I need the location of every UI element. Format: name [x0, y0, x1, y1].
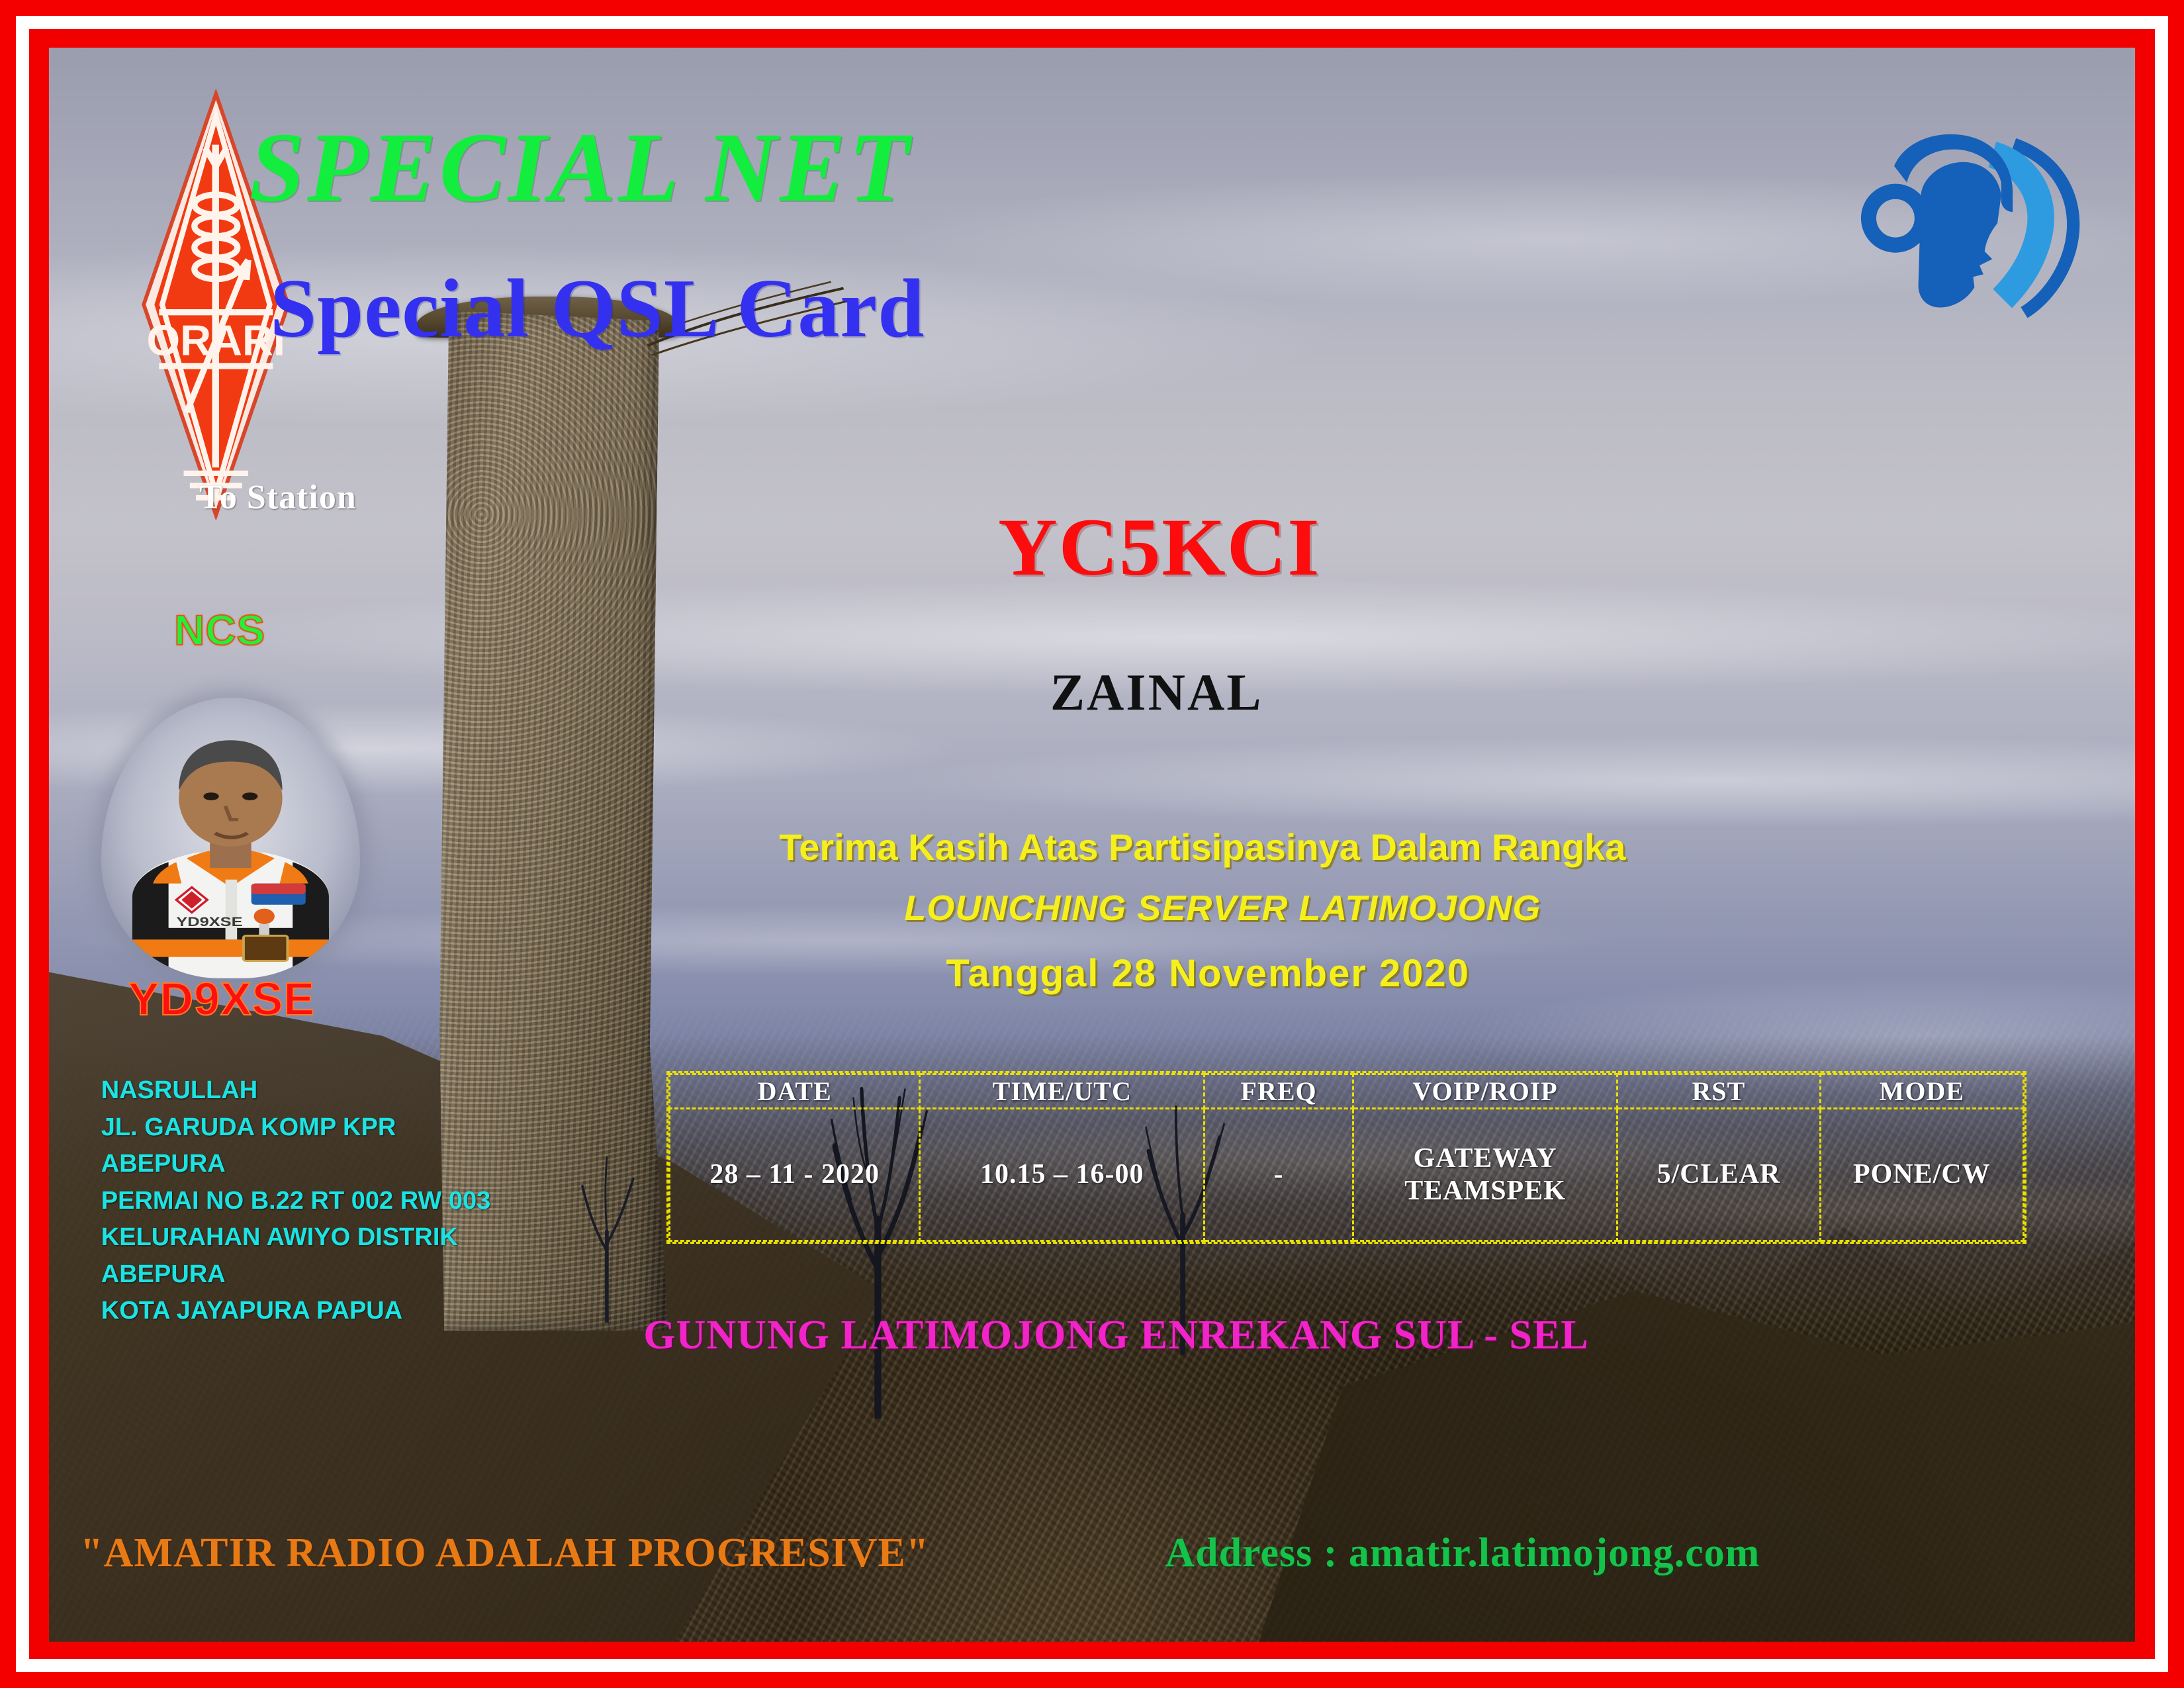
address-block: NASRULLAH JL. GARUDA KOMP KPR ABEPURA PE… [101, 1072, 490, 1329]
uniform-callsign-text: YD9XSE [176, 915, 242, 929]
event-thanks-line: Terima Kasih Atas Partisipasinya Dalam R… [779, 825, 1625, 868]
card-background-photo: ORARI SPECIAL [49, 48, 2135, 1642]
cell-date: 28 – 11 - 2020 [669, 1108, 919, 1241]
address-line: KELURAHAN AWIYO DISTRIK [101, 1219, 490, 1256]
address-line: JL. GARUDA KOMP KPR [101, 1109, 490, 1146]
headset-face-radiowave-logo [1860, 83, 2089, 353]
cell-mode: PONE/CW [1820, 1108, 2023, 1241]
address-line: ABEPURA [101, 1256, 490, 1293]
address-line: PERMAI NO B.22 RT 002 RW 003 [101, 1183, 490, 1219]
footer-website: Address : amatir.latimojong.com [1165, 1530, 1760, 1577]
station-callsign: YC5KCI [998, 500, 1320, 594]
tree-silhouette [560, 1131, 654, 1323]
ncs-label: NCS [174, 606, 265, 655]
table-row: 28 – 11 - 2020 10.15 – 16-00 - GATEWAY T… [669, 1108, 2023, 1241]
cell-rst: 5/CLEAR [1617, 1108, 1821, 1241]
operator-name: ZAINAL [1050, 663, 1263, 722]
qso-log-table: DATE TIME/UTC FREQ VOIP/ROIP RST MODE 28… [666, 1071, 2026, 1244]
page-subtitle: Special QSL Card [270, 267, 925, 351]
event-date-line: Tanggal 28 November 2020 [946, 951, 1470, 996]
cell-time: 10.15 – 16-00 [920, 1108, 1205, 1241]
column-header-mode: MODE [1820, 1074, 2023, 1108]
column-header-freq: FREQ [1205, 1074, 1353, 1108]
qsl-card: ORARI SPECIAL [0, 0, 2184, 1688]
page-title: SPECIAL NET [250, 118, 912, 217]
cell-freq: - [1205, 1108, 1353, 1241]
footer-motto: "AMATIR RADIO ADALAH PROGRESIVE" [80, 1530, 929, 1577]
address-line: ABEPURA [101, 1146, 490, 1182]
table-header-row: DATE TIME/UTC FREQ VOIP/ROIP RST MODE [669, 1074, 2023, 1108]
column-header-voip: VOIP/ROIP [1353, 1074, 1617, 1108]
address-line: NASRULLAH [101, 1072, 490, 1109]
to-station-label: To Station [199, 478, 357, 517]
column-header-date: DATE [669, 1074, 919, 1108]
orari-logo-text: ORARI [146, 316, 285, 364]
ncs-callsign: YD9XSE [128, 972, 315, 1025]
column-header-time: TIME/UTC [920, 1074, 1205, 1108]
event-name-line: LOUNCHING SERVER LATIMOJONG [904, 888, 1541, 929]
column-header-rst: RST [1617, 1074, 1821, 1108]
address-line: KOTA JAYAPURA PAPUA [101, 1293, 490, 1329]
cell-voip: GATEWAY TEAMSPEK [1353, 1108, 1617, 1241]
location-caption: GUNUNG LATIMOJONG ENREKANG SUL - SEL [643, 1312, 1588, 1359]
